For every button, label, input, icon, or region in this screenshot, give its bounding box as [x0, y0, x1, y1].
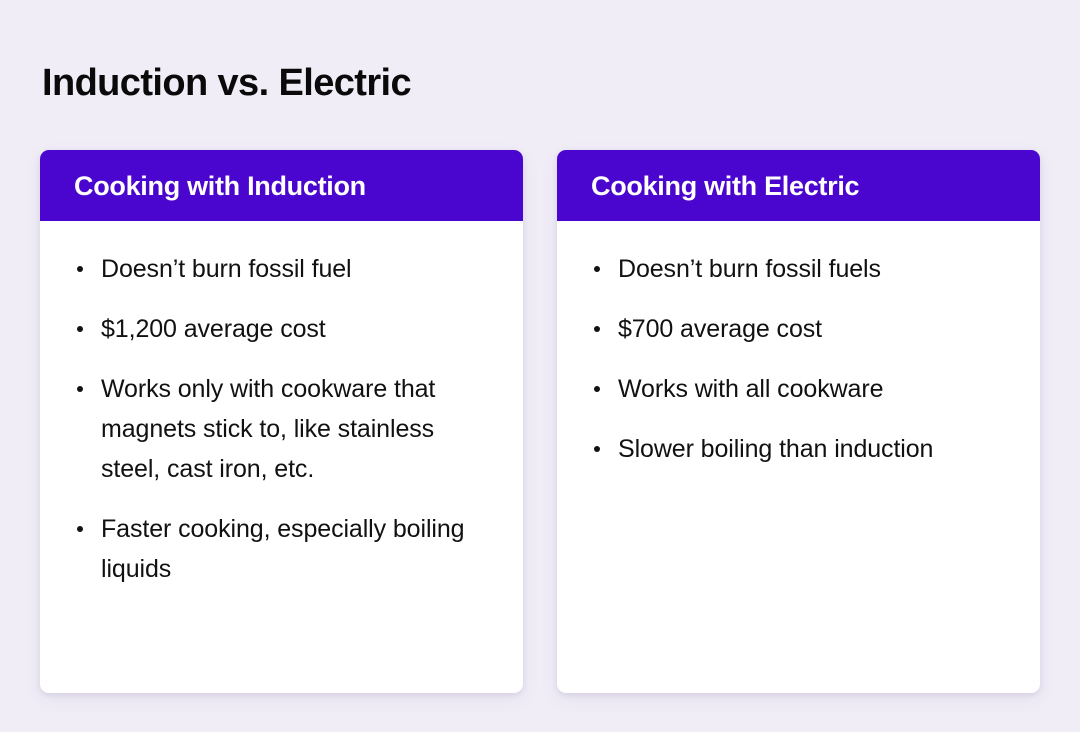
list-item-text: Doesn’t burn fossil fuels [618, 255, 881, 283]
list-item-text: Faster cooking, especially boiling liqui… [101, 515, 464, 583]
card-electric-header-title: Cooking with Electric [591, 170, 859, 202]
list-item-text: $1,200 average cost [101, 315, 326, 343]
card-electric-bullet-list: Doesn’t burn fossil fuels $700 average c… [581, 249, 1016, 469]
page-title: Induction vs. Electric [42, 58, 411, 108]
card-electric-header: Cooking with Electric [557, 150, 1040, 221]
bullet-dot-icon [77, 326, 83, 332]
card-induction-body: Doesn’t burn fossil fuel $1,200 average … [40, 221, 523, 693]
card-induction-header-title: Cooking with Induction [74, 170, 366, 202]
card-electric: Cooking with Electric Doesn’t burn fossi… [557, 150, 1040, 693]
bullet-dot-icon [594, 266, 600, 272]
comparison-infographic: Induction vs. Electric Cooking with Indu… [0, 0, 1080, 732]
card-induction-bullet-list: Doesn’t burn fossil fuel $1,200 average … [64, 249, 499, 589]
list-item: Slower boiling than induction [581, 429, 1016, 469]
list-item-text: $700 average cost [618, 315, 822, 343]
list-item: Works only with cookware that magnets st… [64, 369, 499, 489]
bullet-dot-icon [594, 446, 600, 452]
list-item: Doesn’t burn fossil fuels [581, 249, 1016, 289]
list-item: Works with all cookware [581, 369, 1016, 409]
bullet-dot-icon [77, 266, 83, 272]
bullet-dot-icon [77, 386, 83, 392]
bullet-dot-icon [594, 326, 600, 332]
list-item-text: Works only with cookware that magnets st… [101, 375, 435, 483]
list-item: Doesn’t burn fossil fuel [64, 249, 499, 289]
list-item: Faster cooking, especially boiling liqui… [64, 509, 499, 589]
list-item-text: Doesn’t burn fossil fuel [101, 255, 352, 283]
list-item: $700 average cost [581, 309, 1016, 349]
list-item-text: Slower boiling than induction [618, 435, 933, 463]
list-item-text: Works with all cookware [618, 375, 883, 403]
card-electric-body: Doesn’t burn fossil fuels $700 average c… [557, 221, 1040, 693]
card-induction-header: Cooking with Induction [40, 150, 523, 221]
bullet-dot-icon [77, 526, 83, 532]
bullet-dot-icon [594, 386, 600, 392]
list-item: $1,200 average cost [64, 309, 499, 349]
card-induction: Cooking with Induction Doesn’t burn foss… [40, 150, 523, 693]
